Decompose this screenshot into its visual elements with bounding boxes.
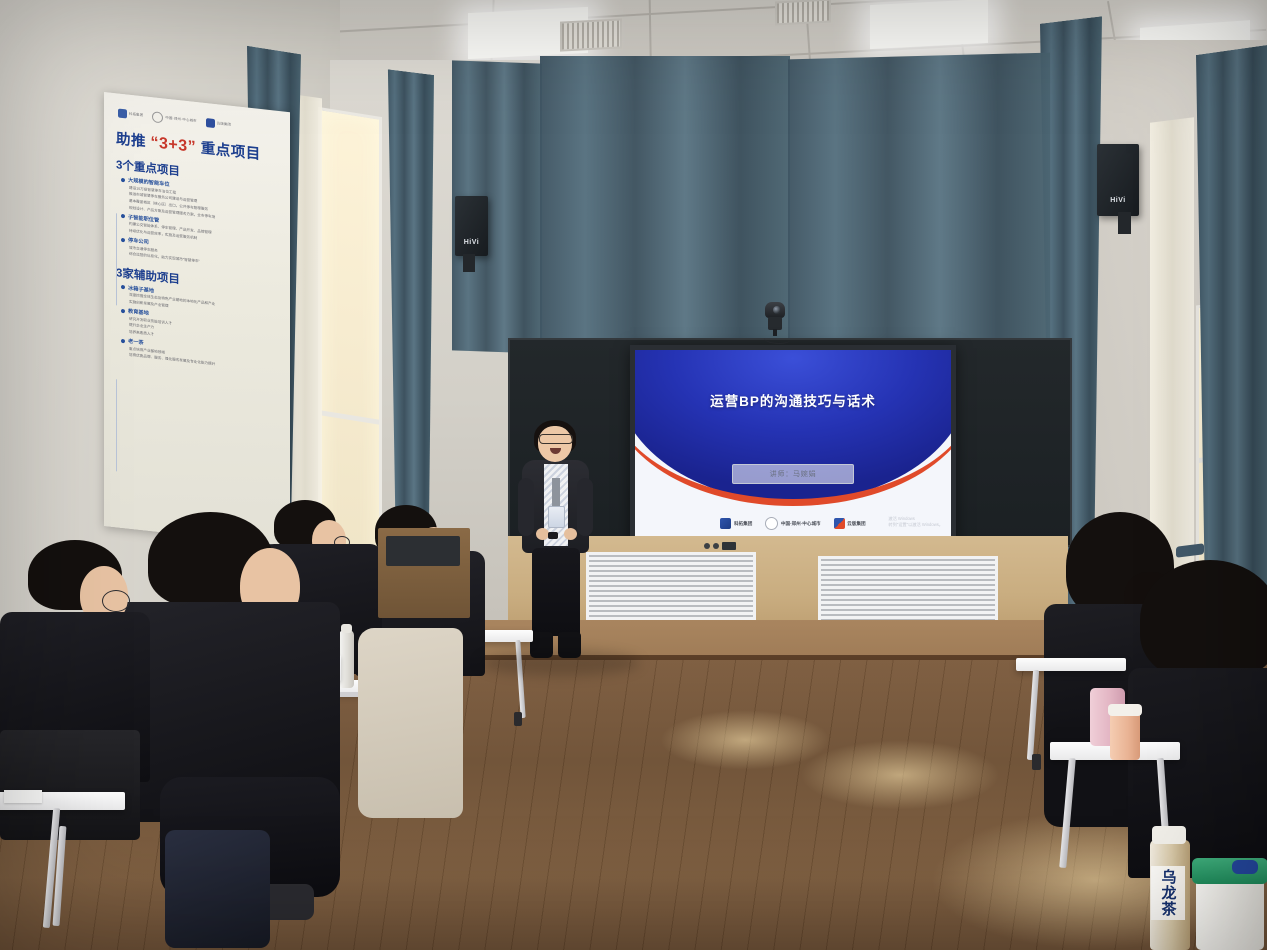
desk-right-far-foot — [1032, 754, 1041, 770]
desk-right-far — [1016, 658, 1126, 671]
slide-logo-1-label: 中国·郑州·中心城市 — [781, 521, 821, 527]
curtain-back-right — [788, 53, 1050, 360]
side-cabinet-panel — [386, 536, 460, 566]
slide-logo-0-label: 科拓集团 — [734, 521, 752, 527]
yunban-logo-icon — [834, 518, 845, 529]
keytop-logo-icon — [720, 518, 731, 529]
speaker-bracket-left — [463, 254, 475, 272]
cabinet-button-1[interactable] — [704, 543, 710, 549]
slide-logo-2: 云版集团 — [834, 518, 866, 529]
curtain-back-center — [540, 56, 790, 356]
slide-presenter-label: 讲师：马婉娟 — [732, 464, 854, 484]
poster-logo-2: 云版集团 — [206, 118, 231, 130]
ceiling-vent-1 — [560, 18, 622, 51]
paper-sheet — [4, 790, 42, 803]
chair-foreground — [0, 730, 140, 840]
poster-headline-pre: 助推 — [116, 131, 146, 150]
wall-speaker-left: HiVi — [455, 196, 488, 256]
slide-logo-0: 科拓集团 — [720, 518, 752, 529]
yunban-mark-icon — [206, 118, 215, 128]
ptz-camera — [762, 300, 788, 336]
poster-logo-0: 科拓集团 — [118, 109, 143, 121]
cabinet-button-2[interactable] — [713, 543, 719, 549]
city-logo-icon — [765, 517, 778, 530]
floor-shadow — [480, 650, 640, 676]
presenter-trousers — [532, 548, 580, 636]
speaker-brand-right: HiVi — [1097, 197, 1139, 204]
poster-headline-quote: “3+3” — [151, 134, 197, 156]
container-blue-accent — [1232, 860, 1258, 874]
camera-lens-icon — [773, 306, 781, 314]
desk-far-left-foot — [514, 712, 522, 726]
wall-poster: 科拓集团 中国·郑州·中心城市 云版集团 助推 “3+3” 重点项目 3个重点项… — [104, 92, 290, 546]
attendee-right-2-body — [1128, 668, 1267, 878]
poster-logo-0-label: 科拓集团 — [129, 112, 143, 118]
attendee-right-2-hair — [1140, 560, 1267, 680]
oolong-tea-text: 乌龙茶 — [1158, 869, 1179, 917]
oolong-tea-label: 乌龙茶 — [1151, 866, 1185, 920]
cabinet-controls[interactable] — [704, 542, 736, 550]
presenter — [508, 420, 603, 665]
attendee-left-1-glasses-icon — [102, 590, 130, 612]
presenter-glasses-icon — [539, 434, 573, 444]
ceiling-vent-2 — [775, 0, 831, 25]
ceiling-light-2 — [870, 0, 988, 49]
poster-headline-post: 重点项目 — [201, 141, 261, 164]
presenter-badge — [548, 506, 565, 528]
slide: 运营BP的沟通技巧与话术 讲师：马婉娟 科拓集团 中国·郑州·中心城市 云版集团… — [635, 350, 951, 540]
presenter-lanyard — [552, 478, 560, 508]
poster-logo-1-label: 中国·郑州·中心城市 — [165, 116, 196, 124]
watermark-line-2: 转到"设置"以激活 Windows。 — [888, 522, 943, 528]
backpack — [165, 830, 270, 948]
speaker-brand-left: HiVi — [455, 239, 488, 246]
display-screen[interactable]: 运营BP的沟通技巧与话术 讲师：马婉娟 科拓集团 中国·郑州·中心城市 云版集团… — [630, 345, 956, 545]
presenter-hand-right — [564, 528, 577, 540]
cabinet-panel-icon[interactable] — [722, 542, 736, 550]
slide-logo-2-label: 云版集团 — [847, 521, 865, 527]
radiator-grille-left — [586, 552, 756, 628]
slide-title: 运营BP的沟通技巧与话术 — [635, 390, 951, 410]
windows-activation-watermark: 激活 Windows 转到"设置"以激活 Windows。 — [888, 516, 943, 528]
presenter-clicker — [548, 532, 558, 539]
wall-speaker-right: HiVi — [1097, 144, 1139, 216]
poster-logo-1: 中国·郑州·中心城市 — [152, 111, 196, 127]
poster-logo-2-label: 云版集团 — [217, 122, 231, 128]
presenter-arm-left — [518, 478, 534, 536]
classroom-scene: 科拓集团 中国·郑州·中心城市 云版集团 助推 “3+3” 重点项目 3个重点项… — [0, 0, 1267, 950]
speaker-bracket-right — [1118, 212, 1131, 234]
presenter-face — [538, 426, 572, 462]
oolong-tea-cap — [1152, 826, 1186, 844]
peach-cup-lid — [1108, 704, 1142, 716]
coat-on-chair — [358, 628, 463, 818]
circle-mark-icon — [152, 111, 163, 123]
slide-logo-1: 中国·郑州·中心城市 — [765, 517, 820, 530]
keytop-mark-icon — [118, 109, 127, 119]
presenter-arm-right — [577, 478, 593, 536]
peach-cup — [1110, 712, 1140, 760]
